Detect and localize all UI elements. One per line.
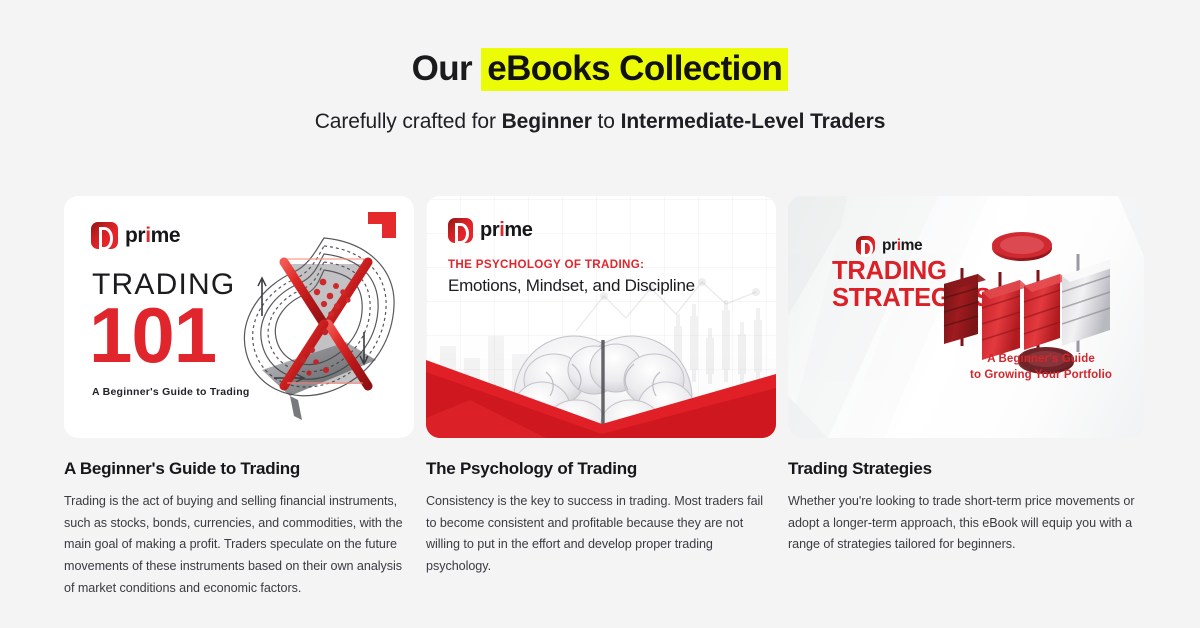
- ebook-cover-trading-101[interactable]: prime TRADING 101 A Beginner's Guide to …: [64, 196, 414, 438]
- card-description: Whether you're looking to trade short-te…: [788, 491, 1136, 556]
- hourglass-maze-illustration: [228, 220, 408, 430]
- logo-text-post: me: [504, 219, 532, 241]
- ebook-card-trading-101[interactable]: prime TRADING 101 A Beginner's Guide to …: [64, 196, 414, 599]
- cover-subtitle-line-2: to Growing Your Portfolio: [970, 367, 1112, 384]
- logo-text-pre: pr: [125, 224, 145, 247]
- subtitle-bold-beginner: Beginner: [502, 110, 592, 133]
- card-title: A Beginner's Guide to Trading: [64, 458, 414, 480]
- card-description: Trading is the act of buying and selling…: [64, 491, 409, 599]
- logo-text-pre: pr: [480, 219, 499, 241]
- ebook-card-psychology-of-trading[interactable]: prime THE PSYCHOLOGY OF TRADING: Emotion…: [426, 196, 776, 578]
- page-header: Our eBooks Collection Carefully crafted …: [0, 0, 1200, 135]
- prime-logo-text: prime: [480, 219, 532, 242]
- ebook-card-trading-strategies[interactable]: prime TRADING STRATEGIES: [788, 196, 1144, 556]
- cover-big-number: 101: [89, 296, 216, 374]
- ebook-cover-trading-strategies[interactable]: prime TRADING STRATEGIES: [788, 196, 1144, 438]
- prime-logo-d-icon: [448, 218, 473, 243]
- subtitle-mid: to: [592, 110, 621, 133]
- card-title: Trading Strategies: [788, 458, 1144, 480]
- page-title-highlight: eBooks Collection: [481, 48, 788, 91]
- prime-logo: prime: [91, 222, 180, 249]
- prime-logo-text: prime: [125, 224, 180, 248]
- page-title: Our eBooks Collection: [0, 48, 1200, 90]
- ebook-cover-psychology-of-trading[interactable]: prime THE PSYCHOLOGY OF TRADING: Emotion…: [426, 196, 776, 438]
- subtitle-bold-intermediate: Intermediate-Level Traders: [621, 110, 886, 133]
- brain-illustration: [426, 248, 776, 438]
- prime-logo-text: prime: [882, 237, 922, 255]
- logo-text-pre: pr: [882, 237, 897, 254]
- cover-subtitle: A Beginner's Guide to Growing Your Portf…: [970, 351, 1112, 384]
- ebooks-collection-page: Our eBooks Collection Carefully crafted …: [0, 0, 1200, 628]
- card-title: The Psychology of Trading: [426, 458, 776, 480]
- subtitle-pre: Carefully crafted for: [315, 110, 502, 133]
- cover-tagline: A Beginner's Guide to Trading: [92, 386, 250, 398]
- page-subtitle: Carefully crafted for Beginner to Interm…: [0, 108, 1200, 135]
- prime-logo-d-icon: [91, 222, 118, 249]
- logo-text-post: me: [151, 224, 181, 247]
- prime-logo: prime: [856, 236, 922, 255]
- cover-subtitle-line-1: A Beginner's Guide: [970, 351, 1112, 368]
- prime-logo-d-icon: [856, 236, 875, 255]
- page-title-prefix: Our: [412, 49, 482, 88]
- card-description: Consistency is the key to success in tra…: [426, 491, 774, 578]
- ebook-card-list: prime TRADING 101 A Beginner's Guide to …: [64, 196, 1200, 599]
- prime-logo: prime: [448, 218, 532, 243]
- logo-text-post: me: [901, 237, 923, 254]
